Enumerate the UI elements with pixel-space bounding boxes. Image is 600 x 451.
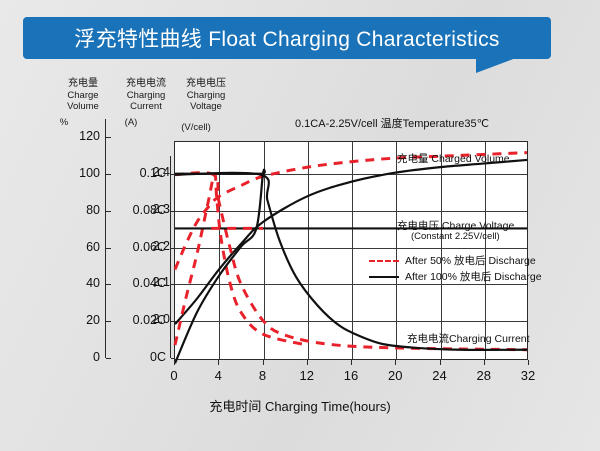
x-axis-title: 充电时间 Charging Time(hours) [0, 396, 600, 415]
axis-header-current: 充电电流 Charging Current [112, 78, 180, 113]
annotation-charge-voltage-sub: (Constant 2.25V/cell) [411, 231, 500, 242]
axis-header-current-cn: 充电电流 [112, 78, 180, 90]
legend-item-1: After 100% 放电后 Discharge [369, 269, 542, 284]
volume-axis-label: 60 [40, 240, 100, 254]
x-axis-tick [528, 360, 529, 365]
volume-axis-label: 120 [40, 129, 100, 143]
chart-curves [175, 142, 527, 359]
voltage-axis-label: 2.3 [140, 202, 170, 216]
x-axis-label: 24 [425, 368, 455, 383]
x-axis-label: 0 [159, 368, 189, 383]
voltage-axis-label: 2.2 [140, 239, 170, 253]
axis-unit-volume: % [52, 117, 76, 128]
chart-plot-area: 充电量 Charged Volume 充电电压 Charge Voltage (… [174, 141, 528, 360]
legend-item-0: After 50% 放电后 Discharge [369, 253, 536, 268]
current-axis-rule [170, 156, 171, 358]
x-axis-tick [263, 360, 264, 365]
axis-header-voltage: 充电电压 Charging Voltage [176, 78, 236, 113]
plot-conditions-note: 0.1CA-2.25V/cell 温度Temperature35℃ [295, 115, 489, 131]
x-axis-label: 12 [292, 368, 322, 383]
axis-header-volume-en2: Volume [52, 101, 114, 113]
x-axis-tick [351, 360, 352, 365]
volume-axis-label: 20 [40, 313, 100, 327]
x-axis-label: 8 [248, 368, 278, 383]
annotation-charged-volume: 充电量 Charged Volume [397, 151, 510, 166]
volume-axis-label: 0 [40, 350, 100, 364]
x-axis-tick [440, 360, 441, 365]
axis-header-voltage-cn: 充电电压 [176, 78, 236, 90]
x-axis-label: 4 [203, 368, 233, 383]
series-line [175, 153, 527, 270]
annotation-charging-current: 充电电流Charging Current [407, 331, 530, 346]
x-axis-tick [307, 360, 308, 365]
axis-header-volume-en1: Charge [52, 90, 114, 102]
volume-axis-tick [106, 137, 111, 138]
axis-header-volume: 充电量 Charge Volume [52, 78, 114, 113]
x-axis-label: 16 [336, 368, 366, 383]
legend-swatch-dashed-icon [369, 260, 399, 262]
page-title: 浮充特性曲线 Float Charging Characteristics [23, 17, 551, 59]
voltage-axis-label: 2.0 [140, 312, 170, 326]
volume-axis-label: 40 [40, 276, 100, 290]
banner-tail-icon [476, 58, 516, 73]
axis-header-volume-cn: 充电量 [52, 78, 114, 90]
current-axis-label: 0C [106, 350, 166, 364]
x-axis-tick [174, 360, 175, 365]
x-axis-label: 20 [380, 368, 410, 383]
volume-axis-label: 100 [40, 166, 100, 180]
x-axis-label: 28 [469, 368, 499, 383]
axis-unit-current: (A) [116, 117, 146, 128]
x-axis-tick [395, 360, 396, 365]
x-axis-tick [218, 360, 219, 365]
axis-header-voltage-en2: Voltage [176, 101, 236, 113]
axis-header-current-en2: Current [112, 101, 180, 113]
axis-unit-voltage: (V/cell) [172, 122, 220, 133]
axis-header-voltage-en1: Charging [176, 90, 236, 102]
legend-label-0: After 50% 放电后 Discharge [405, 253, 536, 268]
voltage-axis-label: 2.4 [140, 165, 170, 179]
voltage-axis-label: 2.1 [140, 275, 170, 289]
title-banner: 浮充特性曲线 Float Charging Characteristics [23, 17, 551, 59]
legend-label-1: After 100% 放电后 Discharge [405, 269, 542, 284]
axis-header-current-en1: Charging [112, 90, 180, 102]
volume-axis-label: 80 [40, 203, 100, 217]
legend-swatch-solid-icon [369, 276, 399, 278]
x-axis-tick [484, 360, 485, 365]
series-line [175, 160, 527, 324]
x-axis-label: 32 [513, 368, 543, 383]
